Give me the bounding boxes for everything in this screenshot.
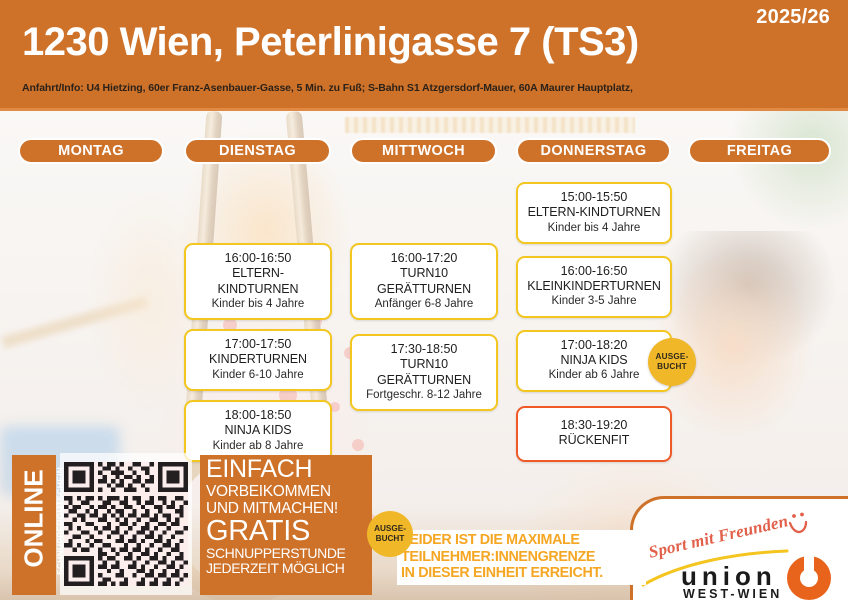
class-name: ELTERN-KINDTURNEN xyxy=(524,205,664,220)
class-name: TURN10 xyxy=(358,266,490,281)
class-name: KINDERTURNEN xyxy=(192,352,324,367)
logo-subbrand: WEST-WIEN xyxy=(683,587,782,600)
badge-line-2: BUCHT xyxy=(657,362,687,372)
day-header-montag: MONTAG xyxy=(18,138,164,164)
day-header-row: MONTAG DIENSTAG MITTWOCH DONNERSTAG FREI… xyxy=(0,138,848,166)
day-header-mittwoch: MITTWOCH xyxy=(350,138,497,164)
class-name-alt: GERÄTTURNEN xyxy=(358,282,490,297)
class-age: Kinder 6-10 Jahre xyxy=(192,368,324,382)
directions-info: Anfahrt/Info: U4 Hietzing, 60er Franz-As… xyxy=(22,82,633,94)
class-time: 16:00-16:50 xyxy=(192,251,324,266)
badge-line-1: AUSGE- xyxy=(374,524,406,534)
class-name: TURN10 xyxy=(358,357,490,372)
class-time: 18:30-19:20 xyxy=(524,418,664,433)
class-time: 18:00-18:50 xyxy=(192,408,324,423)
legend-note-line-3: IN DIESER EINHEIT ERREICHT. xyxy=(401,565,643,582)
day-header-freitag: FREITAG xyxy=(688,138,831,164)
schedule-poster: 2025/26 1230 Wien, Peterlinigasse 7 (TS3… xyxy=(0,0,848,600)
legend-badge-ausgebucht: AUSGE- BUCHT xyxy=(367,511,413,557)
class-card[interactable]: 16:00-16:50 ELTERN-KINDTURNEN Kinder bis… xyxy=(184,243,332,320)
class-time: 17:00-18:20 xyxy=(524,338,664,353)
season-year: 2025/26 xyxy=(756,6,830,29)
class-time: 15:00-15:50 xyxy=(524,190,664,205)
column-mittwoch: 16:00-17:20 TURN10 GERÄTTURNEN Anfänger … xyxy=(350,243,498,420)
union-west-wien-logo: Sport mit Freunden union WEST-WIEN xyxy=(630,496,848,600)
promo-line-5: SCHNUPPERSTUNDE xyxy=(206,546,367,562)
class-card[interactable]: AUSGE- BUCHT 17:00-18:20 NINJA KIDS Kind… xyxy=(516,330,672,392)
class-card[interactable]: 17:30-18:50 TURN10 GERÄTTURNEN Fortgesch… xyxy=(350,334,498,411)
smiley-icon xyxy=(785,511,815,546)
class-name: ELTERN-KINDTURNEN xyxy=(192,266,324,297)
class-card[interactable]: 18:30-19:20 RÜCKENFIT xyxy=(516,406,672,463)
class-card[interactable]: 16:00-16:50 KLEINKINDERTURNEN Kinder 3-5… xyxy=(516,256,672,318)
promo-line-4: GRATIS xyxy=(206,517,367,546)
class-age: Kinder ab 6 Jahre xyxy=(524,368,664,382)
class-age: Anfänger 6-8 Jahre xyxy=(358,297,490,311)
class-card[interactable]: 18:00-18:50 NINJA KIDS Kinder ab 8 Jahre xyxy=(184,400,332,462)
online-voucher-banner: ONLINE SCHNUPPERGUTSCHEIN xyxy=(12,455,56,595)
class-age: Kinder ab 8 Jahre xyxy=(192,439,324,453)
class-name-alt: GERÄTTURNEN xyxy=(358,373,490,388)
class-card[interactable]: 16:00-17:20 TURN10 GERÄTTURNEN Anfänger … xyxy=(350,243,498,320)
legend-note-line-2: TEILNEHMER:INNENGRENZE xyxy=(401,549,643,566)
class-time: 17:00-17:50 xyxy=(192,337,324,352)
class-time: 17:30-18:50 xyxy=(358,342,490,357)
online-label: ONLINE xyxy=(19,449,50,589)
promo-line-6: JEDERZEIT MÖGLICH xyxy=(206,561,367,577)
page-title: 1230 Wien, Peterlinigasse 7 (TS3) xyxy=(22,20,639,65)
badge-line-2: BUCHT xyxy=(376,534,405,544)
column-donnerstag: 15:00-15:50 ELTERN-KINDTURNEN Kinder bis… xyxy=(516,182,672,471)
legend-note: LEIDER IST DIE MAXIMALE TEILNEHMER:INNEN… xyxy=(397,530,646,585)
class-card[interactable]: 15:00-15:50 ELTERN-KINDTURNEN Kinder bis… xyxy=(516,182,672,244)
promo-text-block: EINFACH VORBEIKOMMEN UND MITMACHEN! GRAT… xyxy=(200,455,372,595)
class-name: NINJA KIDS xyxy=(192,423,324,438)
class-age: Kinder bis 4 Jahre xyxy=(524,221,664,235)
legend-note-line-1: LEIDER IST DIE MAXIMALE xyxy=(401,532,643,549)
class-time: 16:00-16:50 xyxy=(524,264,664,279)
day-header-dienstag: DIENSTAG xyxy=(184,138,331,164)
promo-line-2: VORBEIKOMMEN xyxy=(206,483,367,500)
class-name: NINJA KIDS xyxy=(524,353,664,368)
column-dienstag: 16:00-16:50 ELTERN-KINDTURNEN Kinder bis… xyxy=(184,243,332,471)
promo-line-1: EINFACH xyxy=(206,457,367,483)
class-card[interactable]: 17:00-17:50 KINDERTURNEN Kinder 6-10 Jah… xyxy=(184,329,332,391)
class-age: Kinder 3-5 Jahre xyxy=(524,294,664,308)
class-age: Kinder bis 4 Jahre xyxy=(192,297,324,311)
day-header-donnerstag: DONNERSTAG xyxy=(516,138,671,164)
class-name: KLEINKINDERTURNEN xyxy=(524,279,664,294)
class-name: RÜCKENFIT xyxy=(524,433,664,448)
poster-header: 2025/26 1230 Wien, Peterlinigasse 7 (TS3… xyxy=(0,0,848,110)
badge-line-1: AUSGE- xyxy=(655,352,688,362)
class-age: Fortgeschr. 8-12 Jahre xyxy=(358,388,490,402)
class-time: 16:00-17:20 xyxy=(358,251,490,266)
status-badge-ausgebucht: AUSGE- BUCHT xyxy=(648,338,696,386)
qr-code[interactable] xyxy=(60,453,192,595)
logo-u-mark xyxy=(785,554,833,600)
